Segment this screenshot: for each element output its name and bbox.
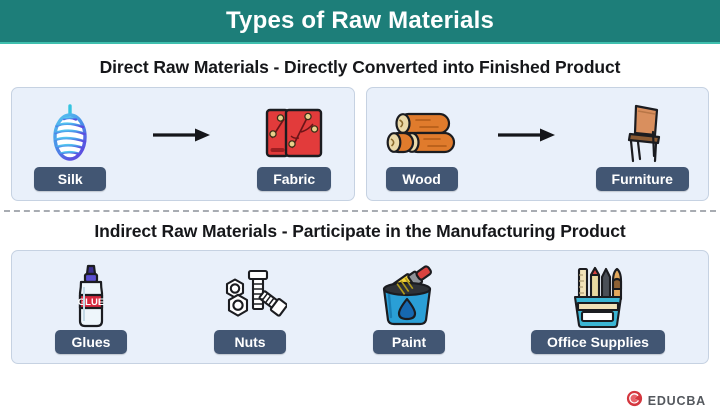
label-wood: Wood bbox=[386, 167, 458, 191]
glue-bottle-icon: GLUE bbox=[69, 262, 113, 330]
item-paint[interactable]: Paint bbox=[373, 251, 445, 363]
label-glues: Glues bbox=[55, 330, 127, 354]
label-nuts: Nuts bbox=[214, 330, 286, 354]
page-header: Types of Raw Materials bbox=[0, 0, 720, 44]
pencil-holder-icon bbox=[567, 262, 629, 330]
section-heading-direct: Direct Raw Materials - Directly Converte… bbox=[0, 57, 720, 78]
chair-icon bbox=[616, 99, 668, 167]
direct-materials-row: Silk bbox=[0, 87, 720, 201]
page-title: Types of Raw Materials bbox=[226, 7, 494, 35]
indirect-materials-row: GLUE Glues bbox=[0, 250, 720, 364]
glue-bottle-text: GLUE bbox=[78, 297, 104, 308]
label-silk: Silk bbox=[34, 167, 106, 191]
label-paint: Paint bbox=[373, 330, 445, 354]
card-wood-to-furniture: Wood bbox=[366, 87, 710, 201]
wood-logs-icon bbox=[386, 99, 458, 167]
item-office-supplies[interactable]: Office Supplies bbox=[531, 251, 665, 363]
nuts-and-bolts-icon bbox=[213, 262, 287, 330]
section-divider bbox=[4, 210, 716, 212]
silk-cocoon-icon bbox=[47, 99, 93, 167]
brand-name: EDUCBA bbox=[648, 394, 706, 408]
fabric-roll-icon bbox=[263, 99, 325, 167]
educba-swirl-logo-icon bbox=[626, 390, 643, 412]
card-silk-to-fabric: Silk bbox=[11, 87, 355, 201]
section-heading-indirect: Indirect Raw Materials - Participate in … bbox=[0, 221, 720, 242]
item-glues[interactable]: GLUE Glues bbox=[55, 251, 127, 363]
label-furniture: Furniture bbox=[596, 167, 689, 191]
arrow-right-icon bbox=[496, 126, 558, 144]
item-furniture[interactable]: Furniture bbox=[596, 88, 689, 200]
card-indirect-materials: GLUE Glues bbox=[11, 250, 709, 364]
item-wood[interactable]: Wood bbox=[386, 88, 458, 200]
footer-brand: EDUCBA bbox=[626, 390, 706, 412]
label-fabric: Fabric bbox=[257, 167, 331, 191]
item-fabric[interactable]: Fabric bbox=[257, 88, 331, 200]
item-silk[interactable]: Silk bbox=[34, 88, 106, 200]
arrow-right-icon bbox=[151, 126, 213, 144]
item-nuts[interactable]: Nuts bbox=[213, 251, 287, 363]
paint-can-brush-icon bbox=[373, 262, 445, 330]
label-office-supplies: Office Supplies bbox=[531, 330, 665, 354]
